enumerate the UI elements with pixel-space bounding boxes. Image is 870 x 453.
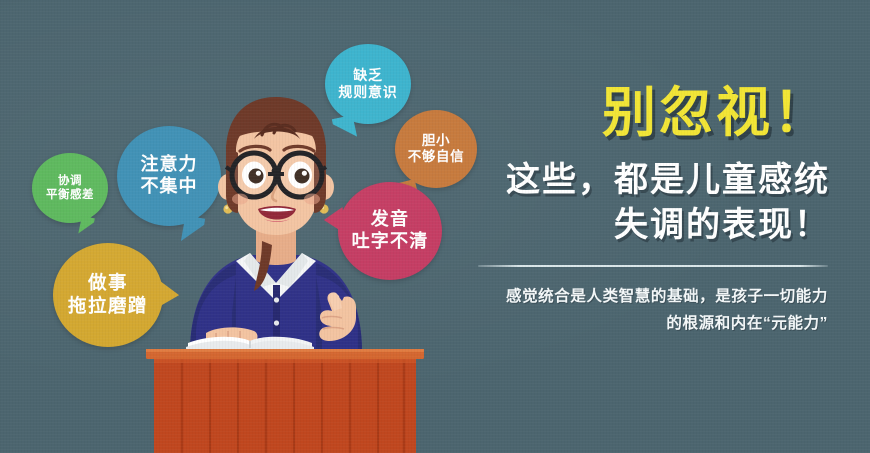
bubble-line-1: 胆小	[422, 133, 450, 149]
divider-rule	[478, 265, 828, 267]
bubble-tail	[78, 216, 94, 236]
teacher-illustration	[150, 95, 400, 360]
bubble-line-1: 协调	[58, 174, 82, 188]
body-copy-line-2: 的根源和内在“元能力”	[468, 310, 828, 337]
bubble-line-2: 不够自信	[408, 149, 464, 165]
lectern-desk	[146, 333, 424, 453]
headline: 别忽视！	[602, 86, 830, 140]
promo-banner: 协调 平衡感差 注意力 不集中 做事 拖拉磨蹭 缺乏 规则意识 胆小 不够自信 …	[0, 0, 870, 453]
bubble-timidity: 胆小 不够自信	[395, 110, 477, 188]
subheadline-line-2: 失调的表现！	[506, 203, 830, 248]
subheadline: 这些，都是儿童感统 失调的表现！	[506, 158, 830, 248]
bubble-coordination: 协调 平衡感差	[32, 153, 108, 223]
bubble-procrastination: 做事 拖拉磨蹭	[53, 243, 163, 347]
bubble-line-1: 缺乏	[353, 67, 383, 84]
desk-front	[154, 359, 416, 453]
bubble-line-2: 平衡感差	[46, 188, 94, 202]
bubble-line-2: 拖拉磨蹭	[68, 295, 148, 318]
open-book	[186, 337, 314, 351]
subheadline-line-1: 这些，都是儿童感统	[506, 161, 830, 199]
bubble-line-1: 做事	[88, 272, 128, 295]
body-copy-line-1: 感觉统合是人类智慧的基础，是孩子一切能力	[506, 288, 828, 305]
body-copy: 感觉统合是人类智慧的基础，是孩子一切能力 的根源和内在“元能力”	[468, 283, 828, 337]
